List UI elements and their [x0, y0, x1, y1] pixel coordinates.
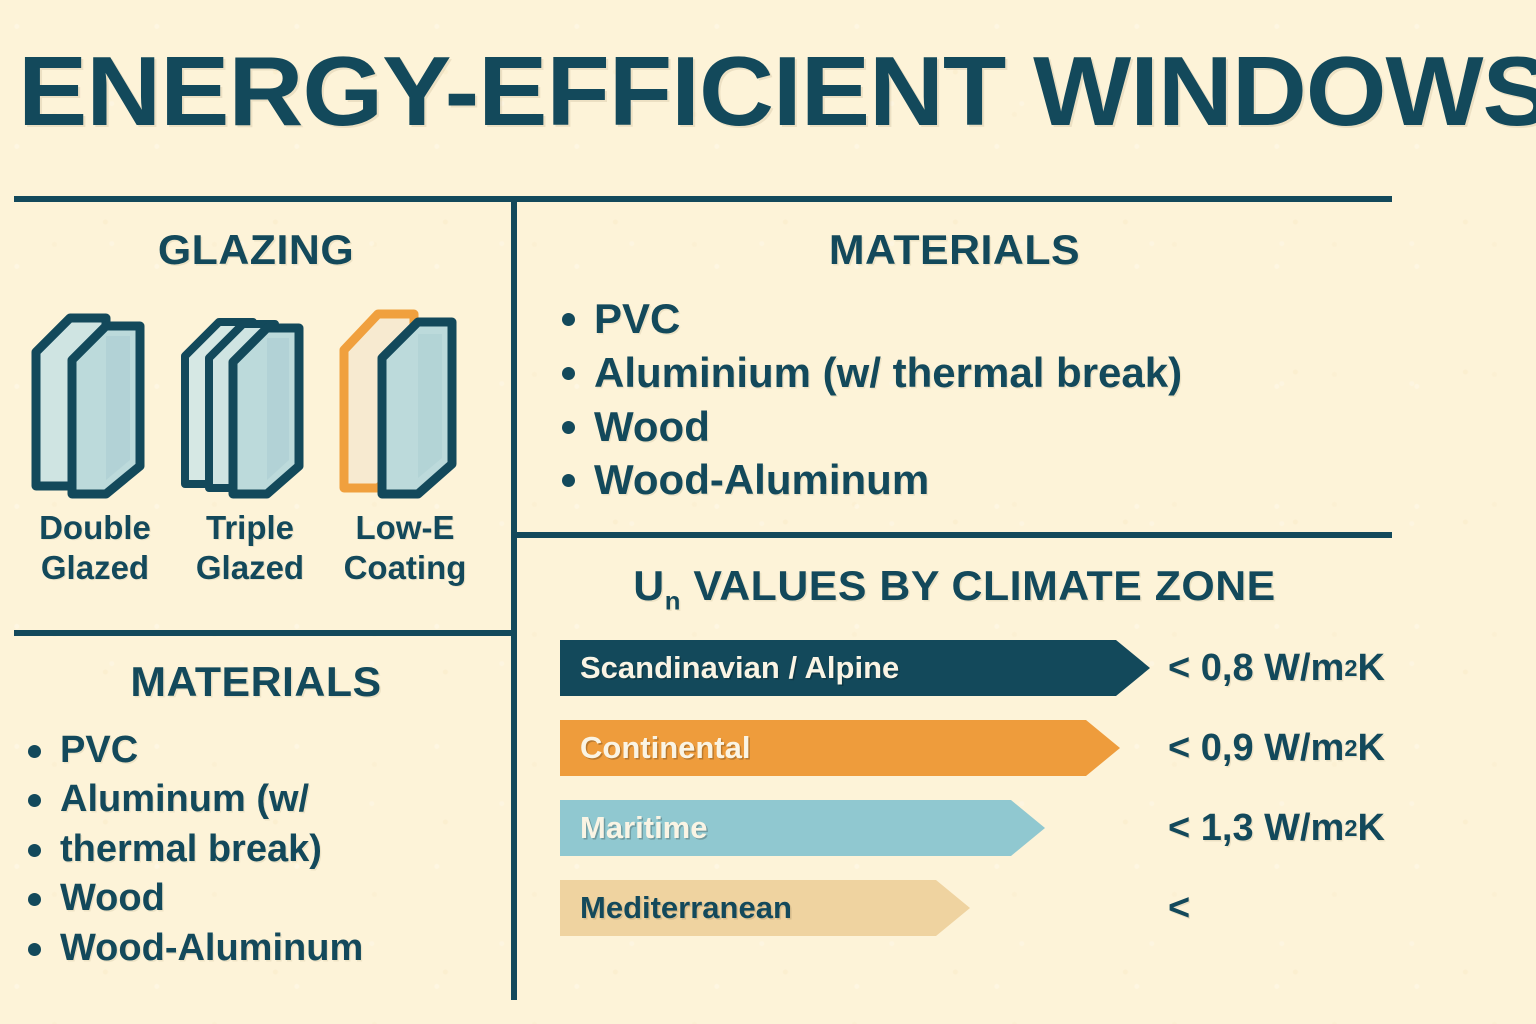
zone-value: < 0,9 W/m2K — [1168, 720, 1385, 776]
zone-row-maritime[interactable]: Maritime < 1,3 W/m2K — [560, 800, 1420, 880]
glazing-label-line1: Double — [39, 509, 151, 546]
climate-heading-subscript: n — [665, 587, 681, 615]
list-item: Wood — [556, 400, 1356, 454]
glazing-label-double: Double Glazed — [20, 508, 170, 589]
list-item: PVC — [556, 292, 1356, 346]
zone-row-scandinavian[interactable]: Scandinavian / Alpine < 0,8 W/m2K — [560, 640, 1420, 720]
zone-bar: Mediterranean — [560, 880, 970, 936]
zone-value: < 1,3 W/m2K — [1168, 800, 1385, 856]
glazing-label-line1: Low-E — [356, 509, 455, 546]
list-item: PVC — [22, 726, 492, 775]
glazing-label-line2: Coating — [344, 549, 467, 586]
materials-bottom-list: PVC Aluminum (w/ thermal break) Wood Woo… — [22, 726, 492, 973]
climate-heading-rest: VALUES BY CLIMATE ZONE — [681, 562, 1276, 609]
materials-top-list: PVC Aluminium (w/ thermal break) Wood Wo… — [556, 292, 1356, 507]
divider-under-title — [14, 196, 1392, 202]
glazing-label-low-e: Low-E Coating — [330, 508, 480, 589]
list-item: Aluminium (w/ thermal break) — [556, 346, 1356, 400]
materials-bottom-heading: MATERIALS — [0, 658, 517, 706]
materials-top-heading: MATERIALS — [508, 226, 1401, 274]
list-item: thermal break) — [22, 825, 492, 874]
zone-label: Scandinavian / Alpine — [560, 650, 899, 686]
list-item: Wood — [22, 874, 492, 923]
list-item: Aluminum (w/ — [22, 775, 492, 824]
glazing-label-line2: Glazed — [196, 549, 304, 586]
low-e-coating-pane-icon — [330, 300, 480, 500]
climate-zone-bar-chart: Scandinavian / Alpine < 0,8 W/m2K Contin… — [560, 640, 1420, 960]
climate-zone-heading: Un VALUES BY CLIMATE ZONE — [508, 562, 1401, 616]
climate-heading-u: U — [633, 562, 664, 609]
double-glazed-pane-icon — [20, 300, 170, 500]
glazing-item-double[interactable]: Double Glazed — [20, 300, 170, 500]
divider-right-middle — [511, 532, 1392, 538]
page-title: ENERGY-EFFICIENT WINDOWS — [18, 42, 1502, 140]
zone-bar: Scandinavian / Alpine — [560, 640, 1150, 696]
glazing-label-triple: Triple Glazed — [175, 508, 325, 589]
infographic-canvas: ENERGY-EFFICIENT WINDOWS GLAZING Double … — [0, 0, 1536, 1024]
glazing-label-line2: Glazed — [41, 549, 149, 586]
zone-bar: Maritime — [560, 800, 1045, 856]
list-item: Wood-Aluminum — [556, 453, 1356, 507]
triple-glazed-pane-icon — [175, 300, 325, 500]
zone-row-mediterranean[interactable]: Mediterranean < — [560, 880, 1420, 960]
zone-bar: Continental — [560, 720, 1120, 776]
zone-label: Maritime — [560, 810, 707, 846]
zone-row-continental[interactable]: Continental < 0,9 W/m2K — [560, 720, 1420, 800]
zone-label: Continental — [560, 730, 751, 766]
glazing-label-line1: Triple — [206, 509, 294, 546]
glazing-icon-row: Double Glazed Triple Glazed — [20, 300, 500, 500]
glazing-item-low-e[interactable]: Low-E Coating — [330, 300, 480, 500]
zone-value: < 0,8 W/m2K — [1168, 640, 1385, 696]
glazing-item-triple[interactable]: Triple Glazed — [175, 300, 325, 500]
zone-value: < — [1168, 880, 1190, 936]
list-item: Wood-Aluminum — [22, 924, 492, 973]
glazing-heading: GLAZING — [0, 226, 517, 274]
divider-left-middle — [14, 630, 517, 636]
zone-label: Mediterranean — [560, 890, 792, 926]
